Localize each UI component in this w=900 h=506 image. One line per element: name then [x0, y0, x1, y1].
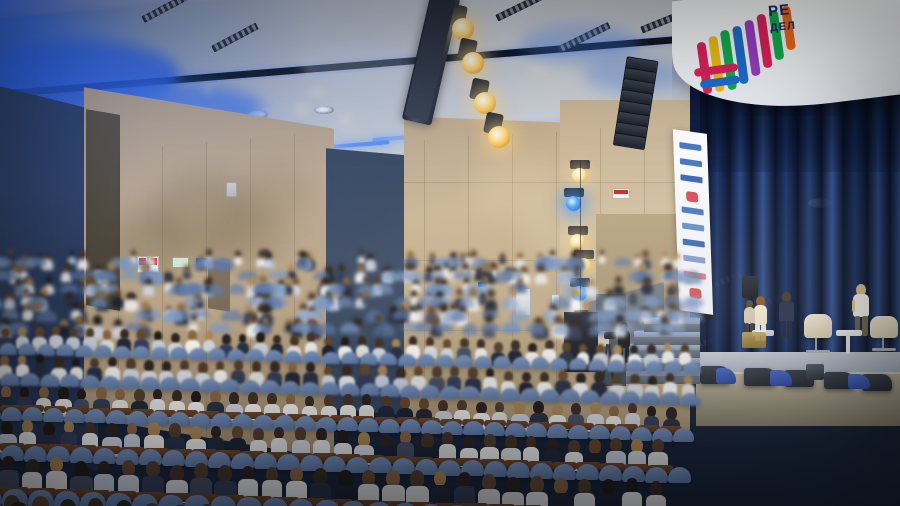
audience-head-r11 [74, 461, 88, 478]
audience-head-r11 [314, 468, 327, 484]
far-seat-back [557, 271, 577, 283]
handheld-microphone [852, 300, 855, 312]
far-seat-back [296, 258, 312, 270]
far-audience-head [206, 277, 212, 284]
far-audience-head [537, 264, 545, 273]
far-seat-back [553, 323, 569, 335]
seat-back-r8 [460, 386, 480, 399]
wall-light-blob-3 [240, 160, 310, 220]
seat-back-r7 [493, 356, 511, 368]
far-audience-head [470, 250, 477, 258]
far-audience-torso [629, 297, 638, 306]
far-audience-head [23, 289, 29, 295]
audience-head-r8 [504, 371, 513, 382]
far-seat-back [228, 284, 245, 294]
stage-woman-presenter-leg-r [862, 316, 868, 336]
audience-head-r11 [50, 457, 63, 473]
far-seat-back [605, 297, 627, 307]
audience-head-r11 [650, 481, 662, 496]
stage-side-table-1-leg [846, 336, 850, 354]
seat-back-r8 [380, 384, 400, 397]
far-audience-torso [613, 285, 624, 296]
far-seat-back [120, 271, 138, 279]
far-audience-head [639, 263, 646, 271]
audience-head-r11 [194, 463, 208, 480]
far-audience-head [571, 288, 579, 297]
far-audience-head [616, 314, 624, 323]
audience-head-r11 [2, 456, 15, 471]
moving-light-head-2 [474, 92, 496, 114]
audience-head-r11 [218, 465, 232, 482]
audience-head-r10 [169, 423, 181, 437]
far-seat-back [415, 323, 431, 331]
seat-back-r7 [341, 352, 359, 364]
far-seat-back [35, 310, 57, 322]
audience-head-r10 [190, 426, 202, 441]
far-seat-back [292, 323, 309, 332]
far-audience-torso [568, 326, 581, 339]
far-audience-torso [4, 298, 15, 309]
audience-head-r7 [307, 333, 315, 342]
stage-woman-presenter-torso [853, 294, 869, 317]
far-audience-head [73, 302, 79, 309]
far-seat-back [25, 258, 47, 266]
seat-back-r7 [512, 357, 530, 369]
audience-head-r11 [146, 461, 160, 478]
seat-back-r8 [80, 375, 100, 388]
seat-back-r7 [588, 359, 606, 371]
ceiling-dapple-30 [527, 65, 550, 74]
far-audience-head [63, 265, 70, 272]
sponsor-logo-4 [682, 206, 704, 215]
far-audience-torso [365, 259, 376, 270]
audience-head-r11 [338, 470, 353, 487]
audience-head-r11 [482, 474, 496, 491]
audience-head-r11 [290, 467, 303, 483]
seat-back-r7 [664, 361, 682, 373]
far-audience-torso [125, 299, 137, 311]
audience-head-r11 [626, 478, 638, 493]
far-seat-back [372, 284, 394, 294]
far-seat-back [194, 258, 213, 269]
audience-head-r10 [1, 421, 13, 435]
sponsor-logo-0 [679, 142, 701, 151]
audience-head-r9 [248, 392, 258, 404]
audience-head-r10 [64, 421, 74, 433]
far-seat-back [184, 284, 205, 293]
audience-head-r8 [108, 357, 117, 368]
audience-head-r11 [410, 470, 424, 487]
seat-back-r8 [120, 376, 140, 389]
far-audience-torso [68, 257, 75, 264]
seat-back-r9 [421, 420, 442, 434]
far-audience-head [288, 264, 294, 271]
seat-back-r10 [507, 462, 530, 478]
far-audience-head [600, 250, 604, 255]
far-audience-head [615, 276, 622, 284]
seat-back-r7 [303, 351, 321, 363]
far-seat-back [256, 284, 274, 294]
far-seat-back [382, 271, 400, 281]
logo-caption-line1: РЕ [767, 1, 795, 21]
audience-head-r8 [198, 362, 208, 373]
far-audience-head [46, 276, 53, 283]
seat-back-r7 [208, 348, 226, 360]
far-seat-back [687, 297, 704, 306]
stage-chair-2 [870, 316, 898, 338]
seat-back-r7 [417, 354, 435, 366]
far-audience-torso [499, 257, 506, 264]
audience-head-r11 [98, 461, 110, 476]
audience-torso-r11 [646, 495, 666, 506]
audience-head-r7 [222, 334, 231, 344]
seat-back-r7 [151, 347, 169, 359]
seat-back-r9 [463, 421, 484, 435]
moving-light-head-3 [488, 126, 510, 148]
far-audience-head [70, 251, 75, 256]
wall-lamp-1 [566, 196, 581, 211]
seat-back-r8 [260, 380, 280, 393]
far-audience-head [669, 303, 675, 310]
far-audience-torso [257, 258, 266, 267]
seat-back-r7 [379, 353, 397, 365]
seat-back-r8 [660, 392, 680, 405]
far-audience-torso [77, 259, 88, 270]
far-audience-head [166, 277, 171, 283]
far-audience-head [75, 316, 83, 325]
audience-torso-r11 [526, 492, 548, 506]
audience-head-r10 [610, 438, 622, 453]
far-seat-back [619, 323, 635, 332]
far-seat-back [526, 323, 545, 333]
far-seat-back [481, 323, 500, 331]
seat-back-r7 [569, 358, 587, 370]
far-audience-head [33, 302, 41, 311]
audience-head-r11 [434, 471, 446, 486]
far-audience-head [484, 264, 491, 272]
audience-head-r10 [43, 422, 55, 437]
far-seat-back [221, 310, 242, 321]
audience-head-r10 [337, 430, 348, 444]
far-seat-back [644, 297, 658, 306]
seat-back-r8 [320, 382, 340, 395]
audience-head-r8 [594, 371, 604, 383]
far-audience-head [463, 277, 469, 284]
audience-torso-r11 [622, 492, 641, 506]
audience-head-r9 [324, 395, 334, 407]
far-seat-back [308, 310, 323, 319]
far-audience-head [285, 277, 292, 285]
sponsor-logo-6 [683, 239, 705, 248]
seat-back-r8 [500, 388, 520, 401]
far-audience-torso [535, 273, 547, 285]
far-seat-back [316, 323, 336, 335]
far-seat-back [147, 310, 163, 319]
far-audience-head [642, 250, 649, 258]
far-seat-back [596, 323, 613, 332]
far-audience-head [482, 276, 489, 284]
sponsor-logo-2 [680, 174, 702, 183]
audience-head-r7 [171, 333, 180, 344]
audience-head-r11 [554, 478, 568, 494]
far-seat-back [501, 323, 522, 332]
far-audience-head [375, 314, 382, 322]
far-seat-back [632, 310, 652, 319]
seat-back-r9 [589, 425, 610, 439]
seat-back-r9 [43, 408, 64, 422]
seat-back-r8 [280, 381, 300, 394]
far-audience-torso [358, 257, 365, 264]
seat-back-r7 [132, 346, 150, 358]
audience-head-r11 [26, 459, 39, 474]
far-seat-back [393, 310, 411, 319]
seat-back-r8 [680, 393, 700, 406]
far-seat-back [451, 310, 468, 321]
seat-back-r8 [420, 385, 440, 398]
seat-back-r7 [0, 343, 17, 355]
audience-torso-r11 [574, 493, 594, 506]
far-seat-back [495, 271, 509, 283]
far-audience-head [668, 289, 673, 295]
seat-back-r10 [668, 467, 691, 483]
audience-head-r10 [421, 433, 434, 448]
ceiling-downlight-9 [314, 106, 334, 114]
seat-back-r7 [322, 352, 340, 364]
audience-torso-r11 [598, 494, 619, 506]
far-seat-back [163, 310, 183, 322]
far-audience-head [250, 314, 257, 322]
audience-head-r11 [122, 460, 135, 476]
audience-head-r10 [442, 432, 453, 445]
far-seat-back [208, 284, 224, 296]
far-seat-back [684, 310, 703, 321]
audience-head-r11 [458, 472, 471, 488]
audience-head-r9 [514, 401, 525, 414]
audience-head-r9 [115, 389, 125, 401]
audience-head-r11 [602, 479, 615, 495]
far-audience-head [411, 290, 417, 297]
audience-head-r9 [20, 387, 29, 398]
moving-light-head-1 [462, 52, 484, 74]
far-audience-head [108, 263, 115, 270]
audience-head-r11 [386, 470, 400, 487]
logo-caption: РЕ ДЕЛ [767, 1, 796, 35]
gobo-wash-7 [300, 44, 420, 86]
far-audience-head [462, 263, 468, 270]
audience-head-r7 [256, 332, 265, 343]
stage-woman-cream-torso [754, 305, 768, 325]
seat-back-r8 [140, 377, 160, 390]
audience-head-r11 [362, 470, 375, 486]
far-audience-head [406, 263, 413, 270]
far-audience-head [131, 250, 136, 256]
audience-seating [0, 250, 750, 506]
seat-back-r7 [189, 348, 207, 360]
far-audience-head [363, 276, 369, 283]
wall-panel-small [226, 182, 237, 197]
moving-light-head-0 [452, 18, 474, 40]
far-audience-head [235, 251, 240, 257]
seat-back-r7 [645, 361, 663, 373]
audience-torso-r11 [550, 493, 572, 506]
seat-back-r8 [560, 389, 580, 402]
audience-head-r10 [589, 439, 601, 454]
seat-back-r7 [474, 356, 492, 368]
stage-man-suit-leg-r [787, 321, 792, 339]
seat-back-r7 [18, 343, 36, 355]
stage-chair-2-base [872, 348, 896, 351]
audience-head-r7 [103, 330, 111, 340]
audience-head-r10 [316, 428, 327, 441]
far-audience-torso [24, 310, 33, 319]
far-audience-torso [61, 272, 71, 282]
seat-back-r10 [162, 450, 185, 466]
far-audience-torso [183, 271, 191, 279]
far-audience-torso [363, 297, 372, 306]
far-audience-head [176, 277, 182, 284]
far-audience-head [359, 249, 364, 254]
seat-back-r8 [480, 387, 500, 400]
seat-back-r8 [20, 373, 40, 386]
far-seat-back [94, 271, 116, 281]
ceiling-dapple-33 [337, 122, 358, 130]
audience-head-r7 [290, 336, 299, 346]
audience-head-r8 [468, 367, 478, 379]
seat-back-r7 [227, 349, 245, 361]
audience-head-r11 [506, 477, 520, 493]
seat-back-r8 [580, 390, 600, 403]
fire-notice-sign-right [612, 188, 630, 199]
seat-back-r7 [56, 344, 74, 356]
stage-chair-1 [804, 314, 832, 338]
audience-head-r11 [170, 465, 184, 482]
far-audience-head [510, 289, 517, 297]
far-audience-head [93, 315, 102, 325]
auditorium-photo: РЕ ДЕЛ Auditorium conference hall with a… [0, 0, 900, 506]
ceiling-dapple-24 [303, 63, 316, 76]
far-audience-head [344, 289, 351, 297]
far-audience-head [79, 250, 86, 258]
far-audience-head [259, 275, 267, 284]
stage-man-suit-torso [779, 301, 793, 322]
far-seat-back [0, 297, 2, 307]
far-seat-back [462, 323, 477, 335]
far-audience-head [663, 251, 669, 257]
far-audience-head [583, 301, 591, 310]
seat-back-r9 [673, 428, 694, 442]
far-seat-back [614, 258, 631, 266]
far-audience-torso [642, 284, 651, 293]
seat-back-r7 [246, 349, 264, 361]
far-audience-head [79, 303, 85, 310]
seat-back-r7 [170, 347, 188, 359]
audience-head-r7 [647, 344, 656, 355]
audience-head-r11 [530, 476, 544, 493]
stage-confidence-monitor [806, 364, 824, 380]
seat-back-r8 [620, 391, 640, 404]
far-seat-back [340, 323, 359, 333]
far-audience-head [444, 262, 449, 268]
far-audience-head [487, 289, 495, 298]
far-audience-head [191, 314, 197, 321]
wall-lamp-2 [570, 234, 585, 249]
far-audience-head [87, 276, 94, 284]
far-seat-back [665, 323, 685, 333]
audience-head-r10 [232, 426, 243, 439]
far-audience-torso [112, 297, 121, 306]
far-audience-torso [599, 256, 606, 263]
far-seat-back [372, 323, 394, 336]
far-seat-back [337, 297, 354, 308]
far-audience-head [206, 249, 212, 255]
seat-back-r7 [455, 355, 473, 367]
far-audience-torso [234, 257, 242, 265]
audience-head-r11 [578, 479, 591, 494]
seat-back-r8 [160, 377, 180, 390]
seat-back-r10 [576, 464, 599, 480]
seat-back-r8 [180, 378, 200, 391]
far-audience-head [21, 263, 27, 269]
sponsor-logo-3 [686, 191, 698, 203]
seat-back-r7 [94, 345, 112, 357]
audience-head-r8 [522, 372, 531, 382]
seat-back-r7 [531, 357, 549, 369]
sponsor-logo-1 [680, 158, 702, 167]
far-audience-head [343, 277, 350, 285]
audience-head-r9 [362, 394, 371, 405]
seat-back-r9 [547, 424, 568, 438]
audience-head-r9 [267, 393, 277, 405]
far-audience-torso [585, 286, 596, 297]
far-seat-back [545, 258, 561, 268]
ceiling-dapple-32 [294, 101, 309, 118]
audience-head-r11 [266, 467, 278, 482]
seat-back-r8 [520, 388, 540, 401]
far-audience-head [7, 249, 12, 255]
far-seat-back [435, 323, 453, 332]
audience-head-r9 [134, 389, 145, 402]
seat-back-r7 [550, 358, 568, 370]
far-audience-head [550, 250, 555, 256]
seat-back-r7 [683, 362, 701, 374]
audience-torso-r11 [430, 485, 450, 505]
far-audience-torso [569, 299, 581, 311]
sponsor-logo-5 [682, 222, 704, 231]
stage-chair-1-base [806, 350, 830, 353]
stage-man-suit-leg-l [781, 321, 786, 339]
seat-back-r9 [106, 410, 127, 424]
audience-head-r7 [375, 338, 384, 349]
audience-head-r10 [106, 423, 118, 438]
seat-back-r7 [265, 350, 283, 362]
seat-back-r8 [60, 374, 80, 387]
far-audience-torso [672, 259, 682, 269]
seat-back-r8 [220, 379, 240, 392]
audience-head-r9 [39, 387, 49, 398]
seat-back-r9 [358, 418, 379, 432]
seat-back-r7 [626, 360, 644, 372]
far-seat-back [509, 310, 529, 322]
far-audience-torso [143, 285, 154, 296]
far-audience-head [469, 288, 477, 297]
